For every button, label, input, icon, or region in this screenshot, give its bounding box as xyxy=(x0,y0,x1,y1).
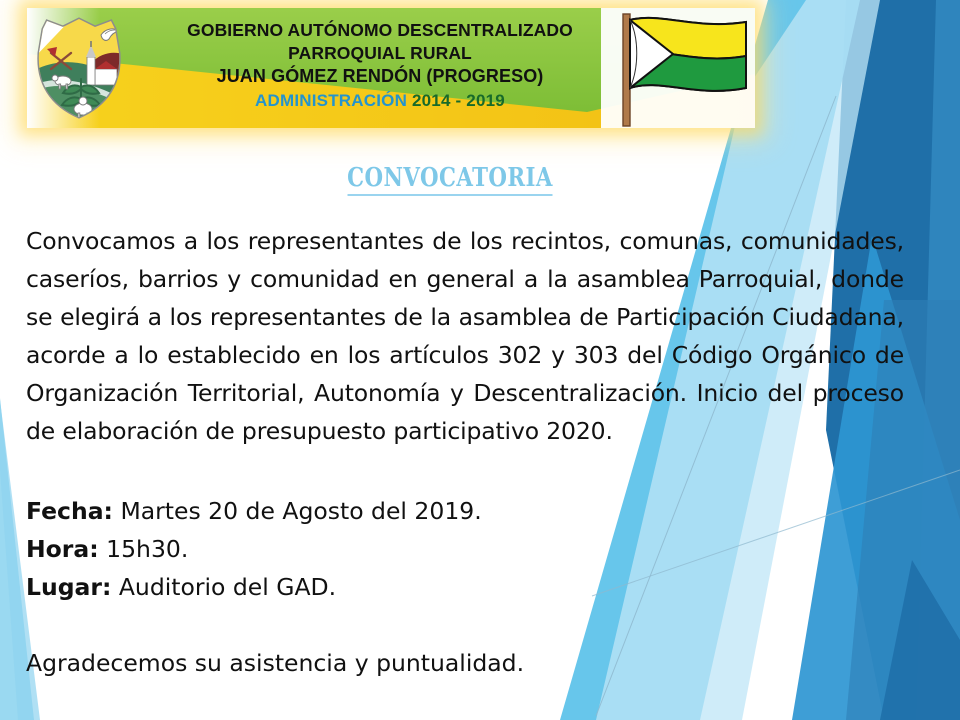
banner-administration-years: 2014 - 2019 xyxy=(407,91,505,110)
page-title: CONVOCATORIA xyxy=(81,163,819,193)
detail-row-hora: Hora: 15h30. xyxy=(26,530,904,568)
banner-administration-word: ADMINISTRACIÓN xyxy=(255,91,407,110)
announcement-closing-line: Agradecemos su asistencia y puntualidad. xyxy=(26,606,904,682)
announcement-intro-paragraph: Convocamos a los representantes de los r… xyxy=(26,222,904,450)
banner-line-2: PARROQUIAL RURAL xyxy=(147,45,613,63)
parish-flag-icon xyxy=(613,10,753,128)
banner-line-1: GOBIERNO AUTÓNOMO DESCENTRALIZADO xyxy=(147,22,613,40)
header-banner: GOBIERNO AUTÓNOMO DESCENTRALIZADO PARROQ… xyxy=(27,8,755,128)
detail-label-lugar: Lugar: xyxy=(26,573,111,601)
detail-label-hora: Hora: xyxy=(26,535,99,563)
coat-of-arms-icon xyxy=(33,13,145,125)
slide-canvas: GOBIERNO AUTÓNOMO DESCENTRALIZADO PARROQ… xyxy=(0,0,960,720)
header-banner-inner: GOBIERNO AUTÓNOMO DESCENTRALIZADO PARROQ… xyxy=(27,8,755,128)
banner-line-3: JUAN GÓMEZ RENDÓN (PROGRESO) xyxy=(147,67,613,85)
banner-title-block: GOBIERNO AUTÓNOMO DESCENTRALIZADO PARROQ… xyxy=(147,15,613,123)
deco-band-right-edge xyxy=(916,0,960,720)
detail-value-fecha: Martes 20 de Agosto del 2019. xyxy=(113,497,482,525)
detail-label-fecha: Fecha: xyxy=(26,497,113,525)
detail-row-fecha: Fecha: Martes 20 de Agosto del 2019. xyxy=(26,492,904,530)
detail-value-hora: 15h30. xyxy=(99,535,189,563)
detail-value-lugar: Auditorio del GAD. xyxy=(111,573,336,601)
banner-administration-line: ADMINISTRACIÓN 2014 - 2019 xyxy=(147,92,613,109)
announcement-body: Convocamos a los representantes de los r… xyxy=(26,222,904,682)
event-details-list: Fecha: Martes 20 de Agosto del 2019. Hor… xyxy=(26,450,904,606)
page-title-text: CONVOCATORIA xyxy=(347,163,553,196)
detail-row-lugar: Lugar: Auditorio del GAD. xyxy=(26,568,904,606)
